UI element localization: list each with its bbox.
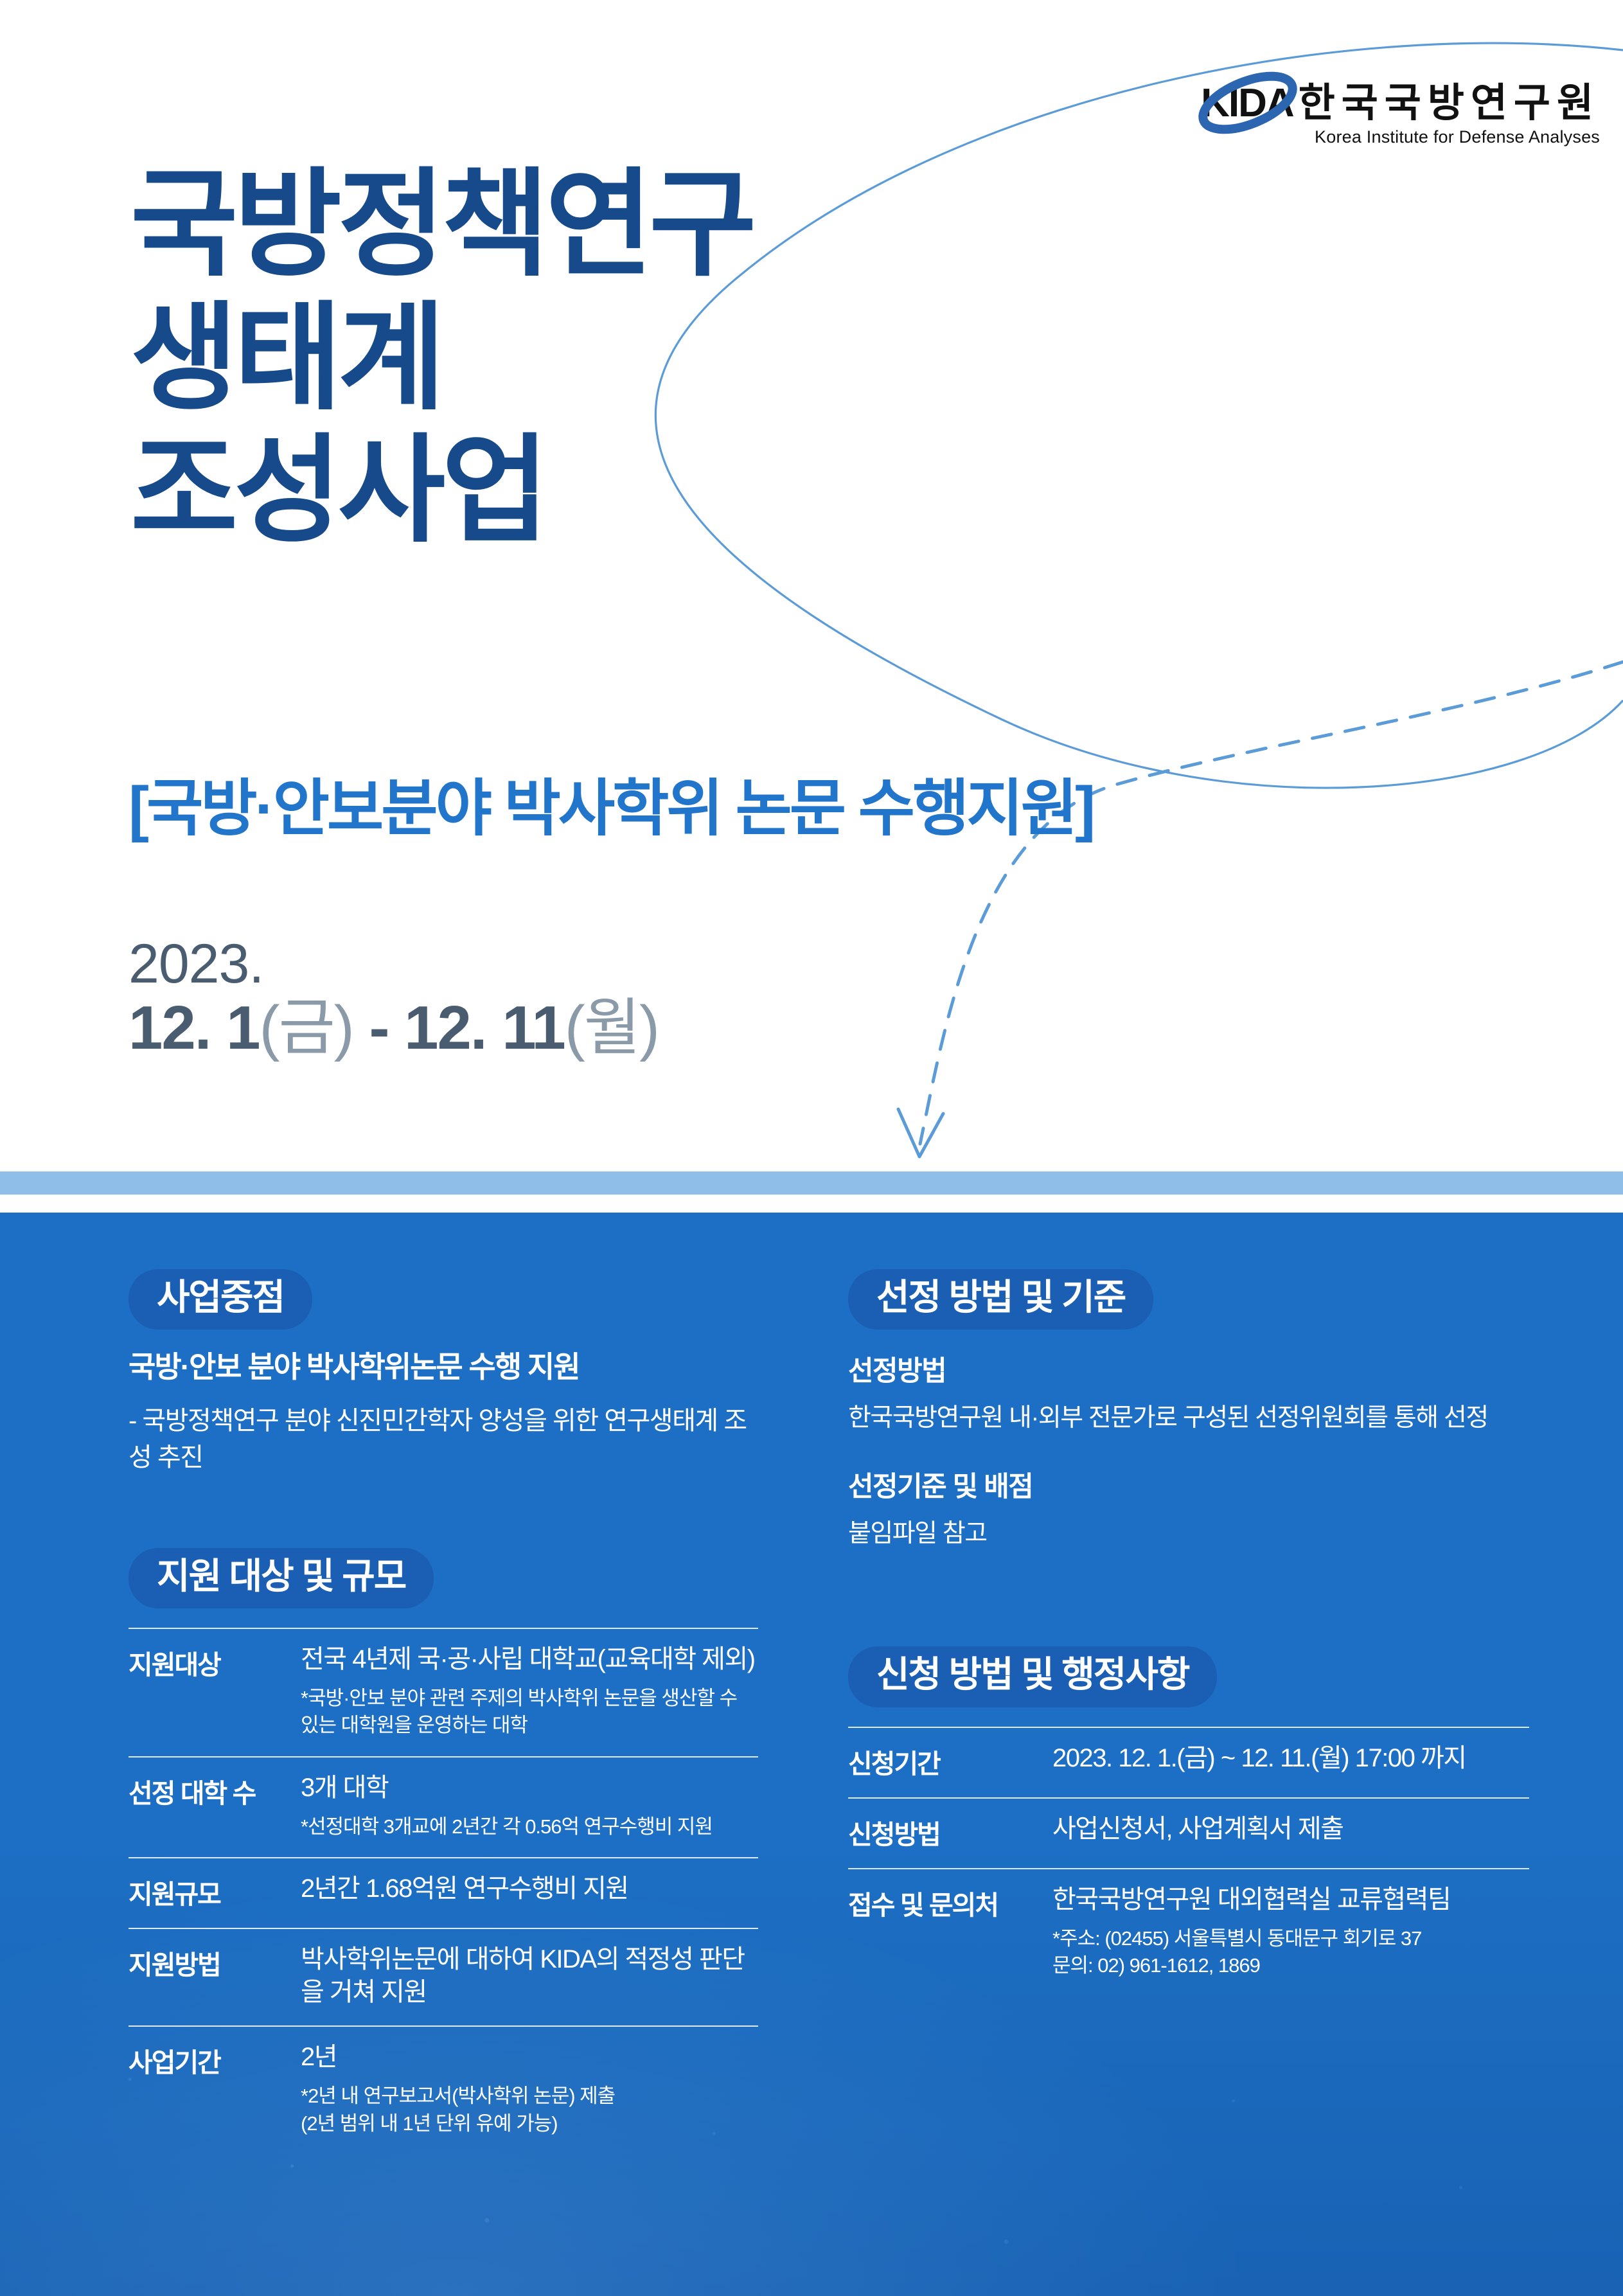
row-value-main: 한국국방연구원 대외협력실 교류협력팀 xyxy=(1052,1885,1450,1914)
row-value: 사업신청서, 사업계획서 제출 xyxy=(1052,1798,1529,1869)
date-end-weekday: (월) xyxy=(565,993,659,1062)
row-key: 접수 및 문의처 xyxy=(848,1869,1052,1997)
kida-wordmark: KIDA xyxy=(1201,84,1293,123)
kida-logo: KIDA 한국국방연구원 Korea Institute for Defense… xyxy=(1201,84,1600,146)
target-table: 지원대상 전국 4년제 국·공·사립 대학교(교육대학 제외) *국방·안보 분… xyxy=(129,1628,758,2154)
poster-subtitle: [국방·안보분야 박사학위 논문 수행지원] xyxy=(129,758,1093,848)
poster-details-section: 사업중점 국방·안보 분야 박사학위논문 수행 지원 - 국방정책연구 분야 신… xyxy=(0,1213,1623,2296)
row-key: 지원방법 xyxy=(129,1928,301,2026)
selection-criteria-text: 붙임파일 참고 xyxy=(848,1516,1529,1551)
row-value-main: 박사학위논문에 대하여 KIDA의 적정성 판단을 거쳐 지원 xyxy=(301,1945,745,2006)
row-value: 전국 4년제 국·공·사립 대학교(교육대학 제외) *국방·안보 분야 관련 … xyxy=(301,1628,758,1757)
table-row: 지원방법 박사학위논문에 대하여 KIDA의 적정성 판단을 거쳐 지원 xyxy=(129,1928,758,2026)
kida-swoosh-icon xyxy=(1193,67,1302,139)
focus-bullet-text: - 국방정책연구 분야 신진민간학자 양성을 위한 연구생태계 조성 추진 xyxy=(129,1403,758,1476)
row-key: 사업기간 xyxy=(129,2026,301,2154)
section-badge-apply: 신청 방법 및 행정사항 xyxy=(848,1646,1217,1707)
kida-name-korean: 한국국방연구원 xyxy=(1299,84,1600,123)
row-value: 2년 *2년 내 연구보고서(박사학위 논문) 제출 (2년 범위 내 1년 단… xyxy=(301,2026,758,2154)
focus-lead-text: 국방·안보 분야 박사학위논문 수행 지원 xyxy=(129,1349,758,1386)
title-line-1: 국방정책연구 xyxy=(130,166,753,283)
row-key: 신청방법 xyxy=(848,1798,1052,1869)
row-value-main: 사업신청서, 사업계획서 제출 xyxy=(1052,1815,1343,1843)
focus-badge-wrap: 사업중점 xyxy=(129,1269,758,1330)
date-separator: - xyxy=(353,993,404,1062)
table-row: 지원규모 2년간 1.68억원 연구수행비 지원 xyxy=(129,1858,758,1928)
selection-method-text: 한국국방연구원 내·외부 전문가로 구성된 선정위원회를 통해 선정 xyxy=(848,1400,1529,1436)
divider-band-white xyxy=(0,1195,1623,1213)
table-row: 접수 및 문의처 한국국방연구원 대외협력실 교류협력팀 *주소: (02455… xyxy=(848,1869,1529,1997)
event-date: 2023. 12. 1(금) - 12. 11(월) xyxy=(129,935,659,1064)
poster-title: 국방정책연구 생태계 조성사업 xyxy=(130,166,753,549)
divider-band-light-blue xyxy=(0,1171,1623,1195)
row-value: 3개 대학 *선정대학 3개교에 2년간 각 0.56억 연구수행비 지원 xyxy=(301,1757,758,1858)
row-value-main: 전국 4년제 국·공·사립 대학교(교육대학 제외) xyxy=(301,1645,755,1673)
row-value-main: 2년 xyxy=(301,2043,337,2071)
row-key: 지원규모 xyxy=(129,1858,301,1928)
date-start-weekday: (금) xyxy=(260,993,353,1062)
date-year: 2023. xyxy=(129,935,659,993)
row-key: 선정 대학 수 xyxy=(129,1757,301,1858)
table-row: 신청방법 사업신청서, 사업계획서 제출 xyxy=(848,1798,1529,1869)
row-value: 2년간 1.68억원 연구수행비 지원 xyxy=(301,1858,758,1928)
selection-method-heading: 선정방법 xyxy=(848,1349,1529,1389)
row-value-note: *국방·안보 분야 관련 주제의 박사학위 논문을 생산할 수 있는 대학원을 … xyxy=(301,1685,758,1739)
row-value-note: *선정대학 3개교에 2년간 각 0.56억 연구수행비 지원 xyxy=(301,1813,758,1840)
selection-badge-wrap: 선정 방법 및 기준 xyxy=(848,1269,1529,1330)
table-row: 선정 대학 수 3개 대학 *선정대학 3개교에 2년간 각 0.56억 연구수… xyxy=(129,1757,758,1858)
table-row: 신청기간 2023. 12. 1.(금) ~ 12. 11.(월) 17:00 … xyxy=(848,1727,1529,1798)
poster-header-section: KIDA 한국국방연구원 Korea Institute for Defense… xyxy=(0,0,1623,1171)
row-value: 박사학위논문에 대하여 KIDA의 적정성 판단을 거쳐 지원 xyxy=(301,1928,758,2026)
apply-table: 신청기간 2023. 12. 1.(금) ~ 12. 11.(월) 17:00 … xyxy=(848,1727,1529,1997)
date-end: 12. 11 xyxy=(404,993,565,1062)
row-value-main: 3개 대학 xyxy=(301,1774,388,1802)
date-start: 12. 1 xyxy=(129,993,260,1062)
section-badge-target: 지원 대상 및 규모 xyxy=(129,1548,434,1608)
row-value-main: 2023. 12. 1.(금) ~ 12. 11.(월) 17:00 까지 xyxy=(1052,1744,1466,1772)
left-column: 사업중점 국방·안보 분야 박사학위논문 수행 지원 - 국방정책연구 분야 신… xyxy=(129,1269,758,2154)
row-value-main: 2년간 1.68억원 연구수행비 지원 xyxy=(301,1874,628,1903)
row-key: 신청기간 xyxy=(848,1727,1052,1798)
selection-criteria-heading: 선정기준 및 배점 xyxy=(848,1464,1529,1504)
apply-badge-wrap: 신청 방법 및 행정사항 xyxy=(848,1646,1529,1707)
table-row: 사업기간 2년 *2년 내 연구보고서(박사학위 논문) 제출 (2년 범위 내… xyxy=(129,2026,758,2154)
target-badge-wrap: 지원 대상 및 규모 xyxy=(129,1548,758,1608)
row-value-note: *주소: (02455) 서울특별시 동대문구 회기로 37 문의: 02) 9… xyxy=(1052,1925,1529,1979)
date-range: 12. 1(금) - 12. 11(월) xyxy=(129,993,659,1063)
right-column: 선정 방법 및 기준 선정방법 한국국방연구원 내·외부 전문가로 구성된 선정… xyxy=(848,1269,1529,1996)
row-key: 지원대상 xyxy=(129,1628,301,1757)
row-value: 2023. 12. 1.(금) ~ 12. 11.(월) 17:00 까지 xyxy=(1052,1727,1529,1798)
title-line-3: 조성사업 xyxy=(130,432,753,549)
row-value: 한국국방연구원 대외협력실 교류협력팀 *주소: (02455) 서울특별시 동… xyxy=(1052,1869,1529,1997)
row-value-note: *2년 내 연구보고서(박사학위 논문) 제출 (2년 범위 내 1년 단위 유… xyxy=(301,2083,758,2137)
section-badge-focus: 사업중점 xyxy=(129,1269,312,1330)
poster-root: KIDA 한국국방연구원 Korea Institute for Defense… xyxy=(0,0,1623,2296)
section-badge-selection: 선정 방법 및 기준 xyxy=(848,1269,1153,1330)
table-row: 지원대상 전국 4년제 국·공·사립 대학교(교육대학 제외) *국방·안보 분… xyxy=(129,1628,758,1757)
title-line-2: 생태계 xyxy=(130,299,753,416)
